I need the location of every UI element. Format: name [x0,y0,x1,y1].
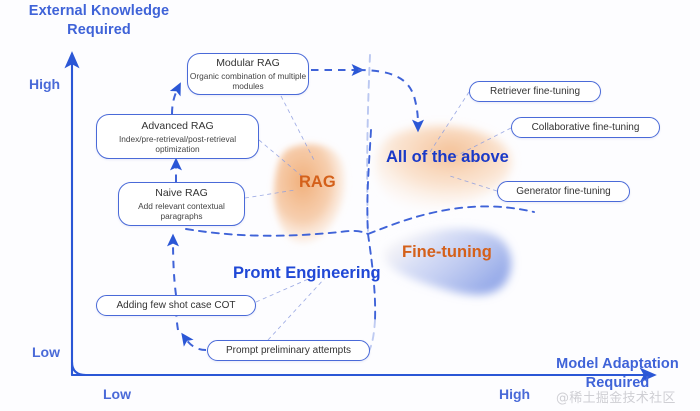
node-advanced-rag[interactable]: Advanced RAG Index/pre-retrieval/post-re… [96,114,259,159]
y-axis-title: External Knowledge Required [4,2,194,40]
node-generator-fine-tuning[interactable]: Generator fine-tuning [497,181,630,202]
axis-corner [72,362,86,375]
y-axis-tick-high: High [29,76,60,92]
region-label-all-of-the-above: All of the above [386,148,509,167]
x-axis-tick-low: Low [103,386,131,402]
x-axis-tick-high: High [499,386,530,402]
node-prompt-preliminary-attempts[interactable]: Prompt preliminary attempts [207,340,370,361]
node-naive-rag-title: Naive RAG [155,187,208,200]
node-naive-rag[interactable]: Naive RAG Add relevant contextual paragr… [118,182,245,226]
region-label-rag: RAG [299,173,336,192]
diagram-canvas: External Knowledge Required Model Adapta… [0,0,700,411]
region-label-fine-tuning: Fine-tuning [402,243,492,262]
region-label-prompt-engineering: Promt Engineering [233,264,381,283]
node-modular-rag[interactable]: Modular RAG Organic combination of multi… [187,53,309,95]
node-adding-few-shot-case-cot[interactable]: Adding few shot case COT [96,295,256,316]
node-advanced-rag-title: Advanced RAG [141,120,213,133]
node-retriever-fine-tuning[interactable]: Retriever fine-tuning [469,81,601,102]
y-axis-tick-low: Low [32,344,60,360]
node-modular-rag-subtitle: Organic combination of multiple modules [188,71,308,91]
node-modular-rag-title: Modular RAG [216,57,280,70]
watermark: @稀土掘金技术社区 [556,387,676,406]
node-advanced-rag-subtitle: Index/pre-retrieval/post-retrieval optim… [97,134,258,154]
node-collaborative-fine-tuning[interactable]: Collaborative fine-tuning [511,117,660,138]
node-naive-rag-subtitle: Add relevant contextual paragraphs [119,201,244,221]
